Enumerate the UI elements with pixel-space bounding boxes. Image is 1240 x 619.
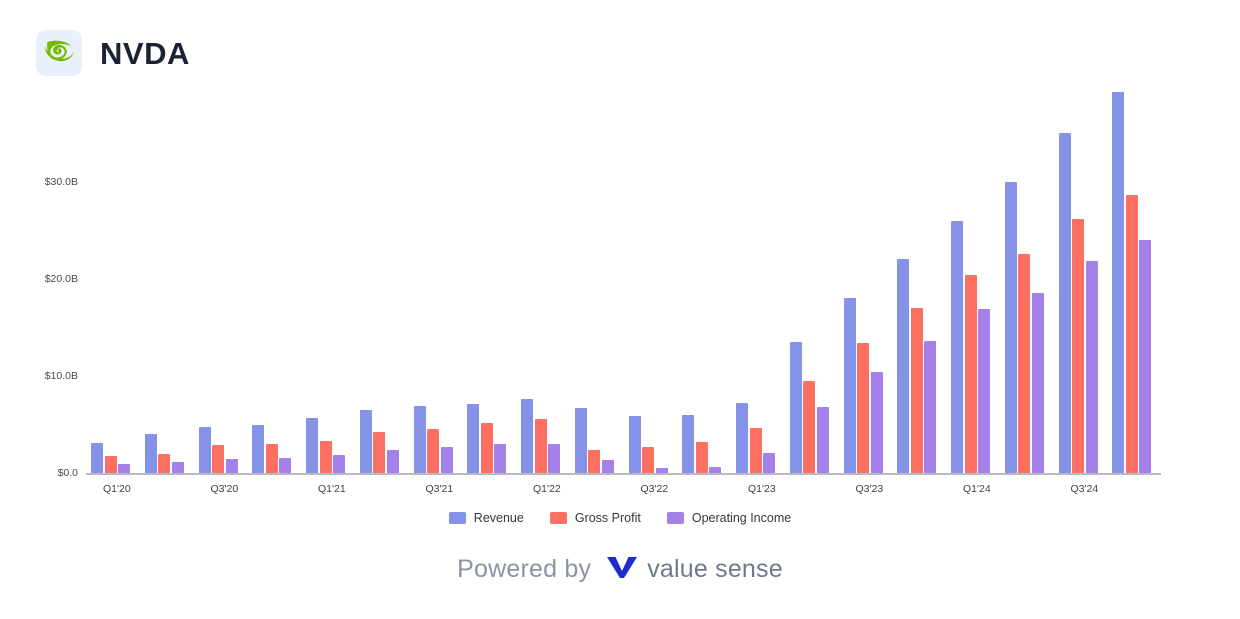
bar-gross-profit[interactable]	[481, 423, 493, 473]
bar-group	[414, 66, 460, 473]
powered-by-label: Powered by	[457, 555, 591, 584]
x-axis-tick-label: Q1'23	[732, 484, 792, 495]
bar-gross-profit[interactable]	[105, 456, 117, 473]
bar-operating-income[interactable]	[279, 458, 291, 473]
bar-group	[1005, 66, 1051, 473]
bar-group	[575, 66, 621, 473]
legend-label: Gross Profit	[575, 512, 641, 525]
bar-group	[897, 66, 943, 473]
bar-operating-income[interactable]	[1139, 240, 1151, 473]
legend-swatch	[667, 512, 684, 524]
legend-swatch	[449, 512, 466, 524]
x-axis-tick-label: Q1'24	[947, 484, 1007, 495]
x-axis-tick-label: Q3'22	[624, 484, 684, 495]
value-sense-v-icon	[605, 554, 639, 585]
x-axis-tick-label: Q3'20	[194, 484, 254, 495]
bar-operating-income[interactable]	[1086, 261, 1098, 473]
bar-gross-profit[interactable]	[212, 445, 224, 473]
bar-revenue[interactable]	[1059, 133, 1071, 473]
bar-gross-profit[interactable]	[696, 442, 708, 473]
bar-gross-profit[interactable]	[373, 432, 385, 473]
bar-groups	[86, 66, 1161, 473]
bar-operating-income[interactable]	[548, 444, 560, 473]
bar-group	[360, 66, 406, 473]
bar-group	[145, 66, 191, 473]
legend-swatch	[550, 512, 567, 524]
x-axis-tick-label: Q1'20	[87, 484, 147, 495]
bar-group	[1059, 66, 1105, 473]
bar-revenue[interactable]	[575, 408, 587, 473]
bar-group	[790, 66, 836, 473]
bar-group	[629, 66, 675, 473]
chart-legend: RevenueGross ProfitOperating Income	[6, 512, 1234, 525]
bar-group	[306, 66, 352, 473]
bar-revenue[interactable]	[145, 434, 157, 473]
bar-revenue[interactable]	[629, 416, 641, 473]
x-axis-tick-label: Q3'23	[839, 484, 899, 495]
bar-revenue[interactable]	[91, 443, 103, 473]
bar-operating-income[interactable]	[871, 372, 883, 473]
bar-operating-income[interactable]	[118, 464, 130, 473]
bar-group	[252, 66, 298, 473]
bar-gross-profit[interactable]	[642, 447, 654, 473]
bar-operating-income[interactable]	[172, 462, 184, 473]
bar-revenue[interactable]	[360, 410, 372, 473]
legend-label: Revenue	[474, 512, 524, 525]
bar-gross-profit[interactable]	[266, 444, 278, 473]
bar-operating-income[interactable]	[924, 341, 936, 473]
bar-revenue[interactable]	[736, 403, 748, 473]
bar-revenue[interactable]	[844, 298, 856, 473]
bar-revenue[interactable]	[414, 406, 426, 473]
bar-operating-income[interactable]	[709, 467, 721, 473]
bar-operating-income[interactable]	[602, 460, 614, 473]
bar-operating-income[interactable]	[817, 407, 829, 473]
x-axis-tick-label: Q1'22	[517, 484, 577, 495]
bar-group	[682, 66, 728, 473]
bar-operating-income[interactable]	[333, 455, 345, 473]
bar-revenue[interactable]	[521, 399, 533, 473]
bar-gross-profit[interactable]	[1018, 254, 1030, 473]
bar-gross-profit[interactable]	[158, 454, 170, 473]
y-axis-tick-label: $0.0	[18, 468, 78, 479]
x-axis-tick-label: Q1'21	[302, 484, 362, 495]
bar-gross-profit[interactable]	[427, 429, 439, 473]
bar-revenue[interactable]	[897, 259, 909, 473]
legend-label: Operating Income	[692, 512, 791, 525]
bar-operating-income[interactable]	[441, 447, 453, 473]
bar-group	[951, 66, 997, 473]
x-axis-tick-label: Q3'21	[409, 484, 469, 495]
bar-group	[199, 66, 245, 473]
bar-operating-income[interactable]	[387, 450, 399, 473]
bar-group	[91, 66, 137, 473]
value-sense-logo: value sense	[605, 554, 783, 585]
bar-operating-income[interactable]	[763, 453, 775, 473]
y-axis-tick-label: $10.0B	[18, 371, 78, 382]
bar-operating-income[interactable]	[494, 444, 506, 473]
bar-gross-profit[interactable]	[911, 308, 923, 473]
legend-item[interactable]: Gross Profit	[550, 512, 641, 525]
bar-revenue[interactable]	[1112, 92, 1124, 473]
legend-item[interactable]: Operating Income	[667, 512, 791, 525]
x-axis-tick-label: Q3'24	[1054, 484, 1114, 495]
y-axis-tick-label: $20.0B	[18, 274, 78, 285]
bar-revenue[interactable]	[199, 427, 211, 473]
bar-gross-profit[interactable]	[750, 428, 762, 473]
bar-revenue[interactable]	[682, 415, 694, 473]
bar-group	[521, 66, 567, 473]
bar-gross-profit[interactable]	[803, 381, 815, 473]
bar-operating-income[interactable]	[978, 309, 990, 473]
bar-gross-profit[interactable]	[857, 343, 869, 473]
bar-group	[1112, 66, 1158, 473]
bar-revenue[interactable]	[467, 404, 479, 473]
value-sense-wordmark: value sense	[647, 555, 783, 584]
bar-revenue[interactable]	[306, 418, 318, 473]
bar-gross-profit[interactable]	[535, 419, 547, 473]
chart-card: NVDA $0.0$10.0B$20.0B$30.0B Q1'20Q3'20Q1…	[6, 6, 1234, 613]
bar-operating-income[interactable]	[226, 459, 238, 473]
bar-group	[736, 66, 782, 473]
footer-branding: Powered by value sense	[6, 554, 1234, 585]
bar-gross-profit[interactable]	[965, 275, 977, 473]
bar-operating-income[interactable]	[1032, 293, 1044, 473]
bar-group	[844, 66, 890, 473]
bar-gross-profit[interactable]	[1126, 195, 1138, 473]
x-axis-baseline	[86, 473, 1161, 475]
bar-gross-profit[interactable]	[588, 450, 600, 473]
bar-gross-profit[interactable]	[320, 441, 332, 473]
bar-revenue[interactable]	[790, 342, 802, 473]
bar-operating-income[interactable]	[656, 468, 668, 473]
legend-item[interactable]: Revenue	[449, 512, 524, 525]
bar-revenue[interactable]	[252, 425, 264, 473]
bar-gross-profit[interactable]	[1072, 219, 1084, 473]
y-axis-tick-label: $30.0B	[18, 177, 78, 188]
bar-revenue[interactable]	[951, 221, 963, 473]
bar-group	[467, 66, 513, 473]
bar-revenue[interactable]	[1005, 182, 1017, 473]
